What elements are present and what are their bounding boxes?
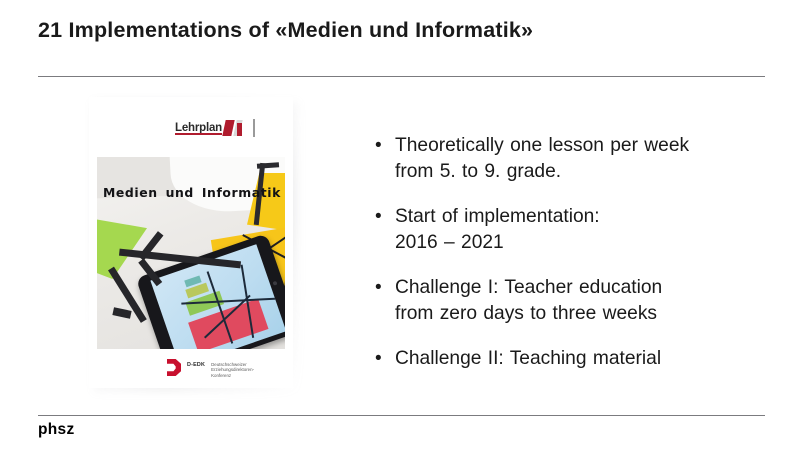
bullet-text: Challenge I: Teacher education from zero… (395, 275, 765, 327)
slide: 21 Implementations of «Medien und Inform… (0, 0, 800, 450)
list-item: • Challenge I: Teacher education from ze… (375, 275, 765, 327)
title-divider (38, 76, 765, 77)
book-cover-image: Lehrplan (88, 96, 298, 392)
list-item: • Start of implementation: 2016 – 2021 (375, 204, 765, 256)
footer-divider (38, 415, 765, 416)
page-title: 21 Implementations of «Medien und Inform… (38, 18, 768, 43)
publisher-logo: D-EDK Deutschschweizer Erziehungsdirekto… (167, 359, 269, 381)
footer-logo-text: phsz (38, 421, 75, 439)
bullet-marker-icon: • (375, 133, 395, 159)
lehrplan-21-mark (224, 119, 246, 137)
publisher-abbr: D-EDK (187, 359, 205, 369)
bullet-marker-icon: • (375, 346, 395, 372)
tablet-camera (272, 281, 277, 286)
bullet-list: • Theoretically one lesson per week from… (375, 133, 765, 391)
bullet-marker-icon: • (375, 204, 395, 230)
book-cover: Lehrplan (89, 97, 293, 388)
lehrplan-underline (175, 133, 222, 135)
bullet-marker-icon: • (375, 275, 395, 301)
dedk-mark-icon (167, 359, 182, 377)
lehrplan-divider-bar (253, 119, 255, 137)
bullet-text: Start of implementation: 2016 – 2021 (395, 204, 765, 256)
bullet-text: Challenge II: Teaching material (395, 346, 765, 372)
list-item: • Challenge II: Teaching material (375, 346, 765, 372)
publisher-name: Deutschschweizer Erziehungsdirektoren- K… (211, 359, 254, 378)
list-item: • Theoretically one lesson per week from… (375, 133, 765, 185)
lehrplan21-logo: Lehrplan (175, 119, 259, 137)
bullet-text: Theoretically one lesson per week from 5… (395, 133, 765, 185)
cover-headline: Medien und Informatik (103, 185, 281, 200)
